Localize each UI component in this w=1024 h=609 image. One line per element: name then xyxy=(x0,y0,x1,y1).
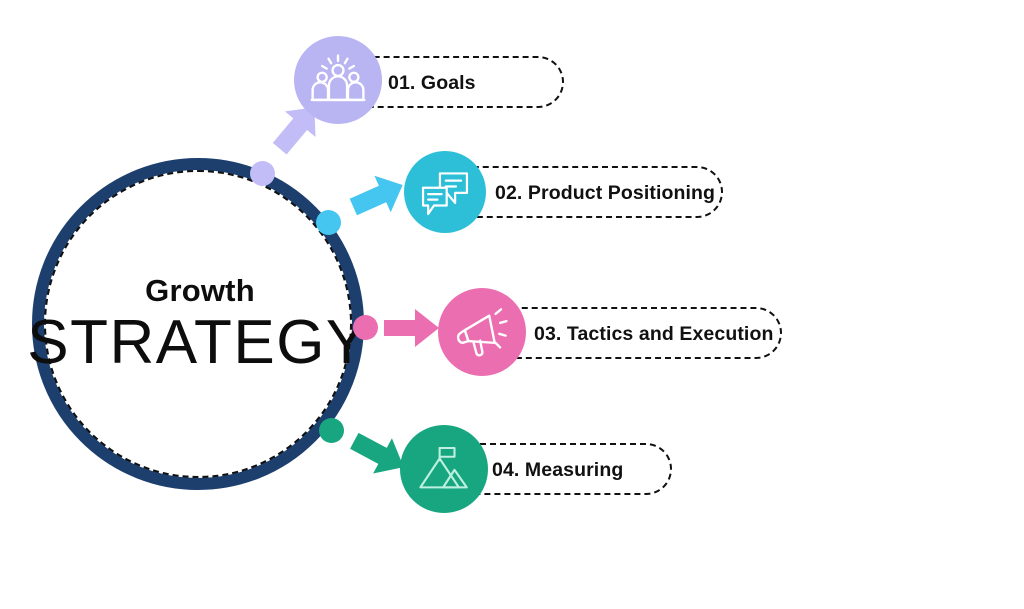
people-goals-icon xyxy=(309,51,367,109)
arrow-to-product-positioning xyxy=(345,168,411,224)
pill-label-measuring: 04. Measuring xyxy=(492,461,623,481)
chat-bubbles-icon xyxy=(418,165,472,219)
pill-label-tactics-execution: 03. Tactics and Execution xyxy=(534,325,773,345)
ring-node-tactics-execution[interactable] xyxy=(353,315,378,340)
icon-bubble-product-positioning[interactable] xyxy=(404,151,486,233)
diagram-canvas: Growth STRATEGY xyxy=(0,0,1024,609)
hub-dashed-ring xyxy=(44,170,352,478)
pill-label-product-positioning: 02. Product Positioning xyxy=(495,184,715,204)
ring-node-measuring[interactable] xyxy=(319,418,344,443)
ring-node-goals[interactable] xyxy=(250,161,275,186)
icon-bubble-goals[interactable] xyxy=(294,36,382,124)
mountain-flag-icon xyxy=(416,441,472,497)
megaphone-icon xyxy=(453,303,511,361)
pill-label-goals: 01. Goals xyxy=(388,74,476,94)
ring-node-product-positioning[interactable] xyxy=(316,210,341,235)
arrow-to-tactics-execution xyxy=(381,303,443,353)
icon-bubble-measuring[interactable] xyxy=(400,425,488,513)
icon-bubble-tactics-execution[interactable] xyxy=(438,288,526,376)
